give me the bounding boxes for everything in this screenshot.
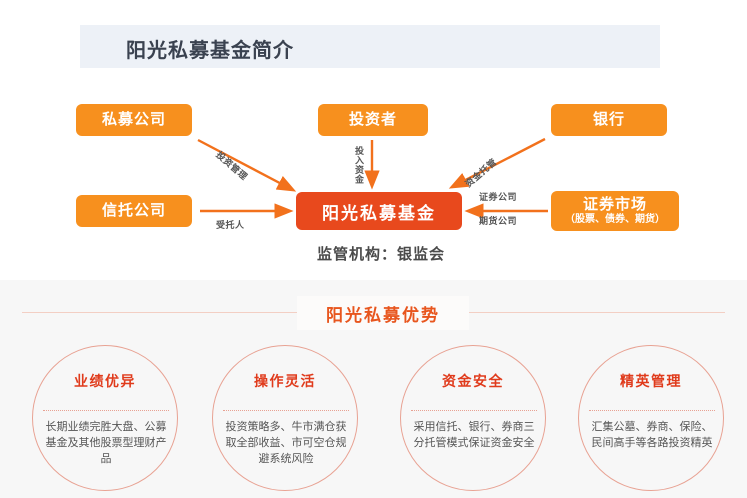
arrow-invest-management	[198, 140, 293, 190]
advantage-body-3: 汇集公墓、券商、保险、民间高手等各路投资精英	[587, 420, 717, 452]
node-investor-label: 投资者	[349, 112, 397, 129]
node-trust-company-label: 信托公司	[102, 203, 166, 220]
edge-label-trustee: 受托人	[216, 218, 245, 231]
advantage-circle-1[interactable]: 操作灵活 投资策略多、牛市满仓获取全部收益、市可空仓规避系统风险	[212, 345, 358, 491]
advantage-divider-0	[43, 410, 169, 411]
edge-label-securities-company: 证券公司	[479, 190, 517, 203]
node-investor[interactable]: 投资者	[318, 104, 428, 136]
advantage-title-0: 业绩优异	[33, 371, 177, 391]
node-pe-company[interactable]: 私募公司	[76, 104, 192, 136]
node-bank-label: 银行	[593, 112, 625, 129]
advantage-title-1: 操作灵活	[213, 371, 357, 391]
edge-label-inject-funds: 投入资金	[352, 146, 363, 184]
advantage-body-2: 采用信托、银行、券商三分托管模式保证资金安全	[409, 420, 539, 452]
advantage-title-2: 资金安全	[401, 371, 545, 391]
page-title: 阳光私募基金简介	[126, 34, 294, 63]
advantage-title-3: 精英管理	[579, 371, 723, 391]
node-pe-company-label: 私募公司	[102, 112, 166, 129]
edge-label-futures-company: 期货公司	[479, 214, 517, 227]
node-trust-company[interactable]: 信托公司	[76, 195, 192, 227]
advantage-divider-2	[411, 410, 537, 411]
advantage-body-1: 投资策略多、牛市满仓获取全部收益、市可空仓规避系统风险	[221, 420, 351, 468]
advantage-body-0: 长期业绩完胜大盘、公募基金及其他股票型理财产品	[41, 420, 171, 468]
node-securities-market-label: 证券市场	[583, 197, 647, 214]
node-bank[interactable]: 银行	[551, 104, 667, 136]
advantage-divider-1	[223, 410, 349, 411]
advantage-circle-2[interactable]: 资金安全 采用信托、银行、券商三分托管模式保证资金安全	[400, 345, 546, 491]
node-securities-market[interactable]: 证券市场 （股票、债券、期货）	[551, 191, 679, 231]
fund-introduction-section: 阳光私募基金简介 私募公司 投资者 银行 信托公司 证券市场 （股票、债券、期货…	[0, 0, 747, 280]
advantage-divider-3	[589, 410, 715, 411]
advantage-circle-0[interactable]: 业绩优异 长期业绩完胜大盘、公募基金及其他股票型理财产品	[32, 345, 178, 491]
node-sunshine-private-fund-label: 阳光私募基金	[322, 199, 436, 224]
regulator-caption: 监管机构：银监会	[291, 243, 471, 264]
advantage-circle-3[interactable]: 精英管理 汇集公墓、券商、保险、民间高手等各路投资精英	[578, 345, 724, 491]
node-sunshine-private-fund[interactable]: 阳光私募基金	[296, 192, 462, 230]
advantages-title-wrap: 阳光私募优势	[297, 296, 469, 330]
node-securities-market-sublabel: （股票、债券、期货）	[565, 214, 665, 225]
edge-label-invest-management: 投资管理	[213, 148, 250, 183]
edge-label-fund-custody: 资金托管	[462, 155, 499, 190]
section-header-band: 阳光私募基金简介	[80, 25, 660, 68]
advantages-section-title: 阳光私募优势	[326, 301, 440, 326]
